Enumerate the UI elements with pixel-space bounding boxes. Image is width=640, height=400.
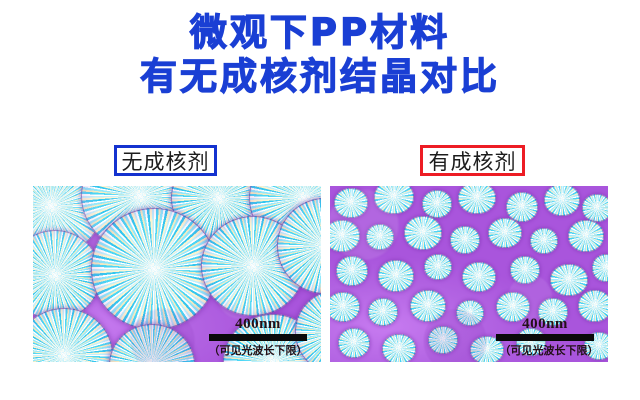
micrograph-left: 400nm （可见光波长下限） [33,186,321,362]
crystallite [382,334,416,362]
crystallite [424,254,452,280]
crystallite [450,226,480,254]
scale-bar-left-note: （可见光波长下限） [203,342,313,358]
scale-bar-left-value: 400nm [203,317,313,333]
page-title: 微观下PP材料 有无成核剂结晶对比 [0,14,640,95]
title-line-2: 有无成核剂结晶对比 [0,58,640,96]
crystallite [462,262,496,292]
panel-label-right: 有成核剂 [420,145,525,176]
scale-bar-left-line [209,334,307,341]
scale-bar-left: 400nm （可见光波长下限） [203,317,313,358]
crystallite [404,216,442,250]
crystallite [422,190,452,218]
scale-bar-right: 400nm （可见光波长下限） [490,317,600,358]
crystallite [410,290,446,322]
crystallite [488,218,522,248]
crystallite [582,194,608,222]
crystallite [568,220,604,252]
crystallite [428,326,458,354]
crystallite [456,300,484,326]
crystallite [530,228,558,254]
crystallite [366,224,394,250]
scale-bar-right-note: （可见光波长下限） [498,342,600,358]
crystallite [544,186,580,216]
title-line-1: 微观下PP材料 [0,14,640,52]
crystallite [550,264,588,296]
scale-bar-right-value: 400nm [490,317,600,333]
crystallite [334,188,368,218]
crystallite [368,298,398,326]
crystallite [378,260,414,292]
crystallite [330,292,360,322]
crystallite [510,256,540,284]
crystallite [336,256,368,286]
panel-label-left: 无成核剂 [114,145,217,176]
crystallite [338,328,370,358]
poster-root: 微观下PP材料 有无成核剂结晶对比 无成核剂 有成核剂 400nm （可见光波长… [0,0,640,400]
panel-label-right-text: 有成核剂 [429,146,517,176]
crystallite [506,192,538,222]
panel-label-left-text: 无成核剂 [122,146,210,176]
micrograph-right: 400nm （可见光波长下限） [330,186,608,362]
spherulite [91,208,217,330]
scale-bar-right-line [496,334,594,341]
